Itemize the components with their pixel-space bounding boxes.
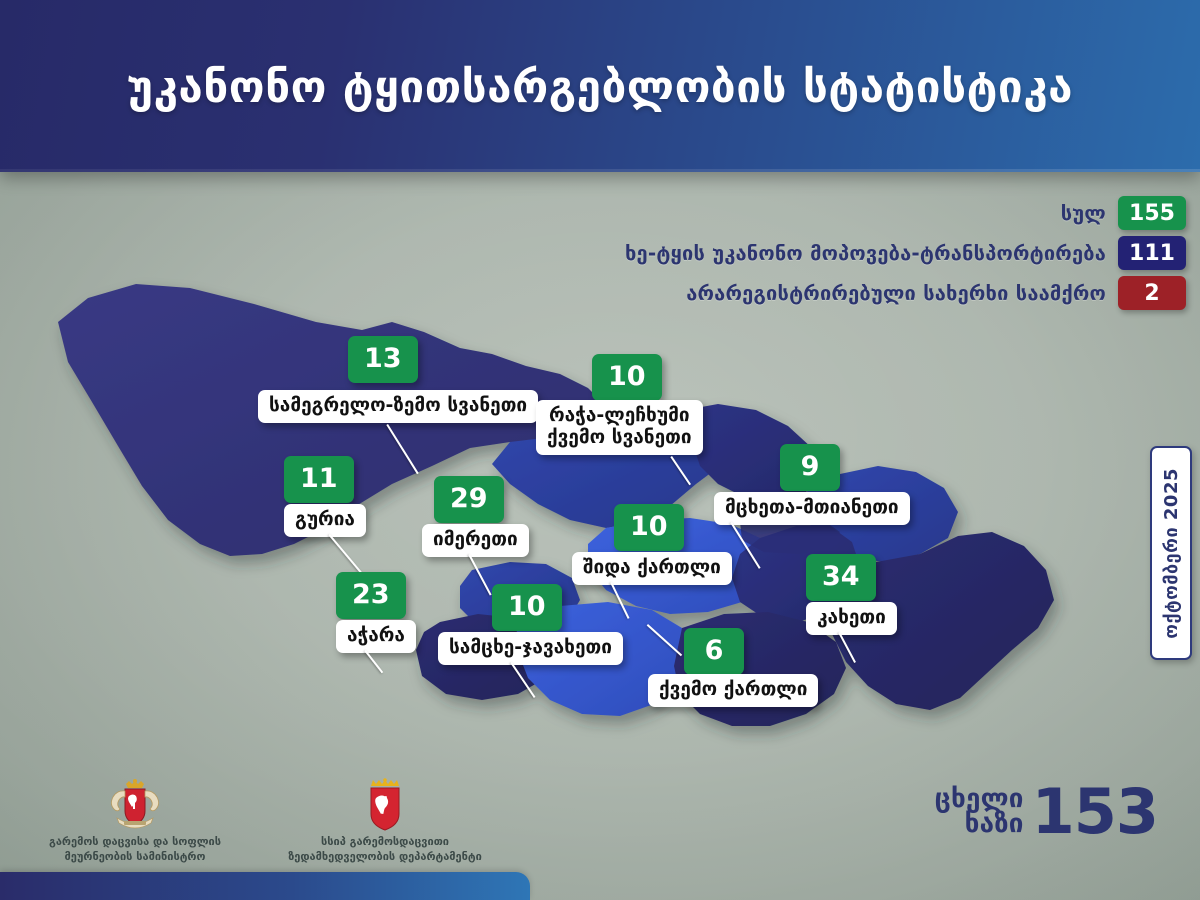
map-marker-guria[interactable]: 11 (284, 456, 354, 503)
map-marker-kakheti[interactable]: 34 (806, 554, 876, 601)
month-chip: ოქტომბერი 2025 (1150, 446, 1192, 660)
map-value-adjara: 23 (336, 572, 406, 619)
map-marker-kvemo-kartli[interactable]: 6 (684, 628, 744, 675)
map-value-racha: 10 (592, 354, 662, 401)
georgia-coat-of-arms-icon (105, 778, 165, 832)
map-label-samtskhe[interactable]: სამცხე-ჯავახეთი (438, 632, 623, 665)
map-name-kvemo-kartli: ქვემო ქართლი (648, 674, 818, 707)
map-marker-racha[interactable]: 10 (592, 354, 662, 401)
legend-badge-total: 155 (1118, 196, 1186, 230)
map-name-adjara: აჭარა (336, 620, 416, 653)
map-label-guria[interactable]: გურია (284, 504, 366, 537)
map-name-samtskhe: სამცხე-ჯავახეთი (438, 632, 623, 665)
map-label-imereti[interactable]: იმერეთი (422, 524, 529, 557)
map-label-mtskheta[interactable]: მცხეთა-მთიანეთი (714, 492, 910, 525)
map-value-guria: 11 (284, 456, 354, 503)
map-value-samegrelo: 13 (348, 336, 418, 383)
map-value-mtskheta: 9 (780, 444, 840, 491)
map-value-samtskhe: 10 (492, 584, 562, 631)
georgia-map (40, 270, 1100, 760)
map-label-adjara[interactable]: აჭარა (336, 620, 416, 653)
legend-label-total: სულ (1061, 201, 1106, 225)
map-marker-adjara[interactable]: 23 (336, 572, 406, 619)
map-value-imereti: 29 (434, 476, 504, 523)
department-emblem-icon (362, 778, 408, 832)
map-marker-imereti[interactable]: 29 (434, 476, 504, 523)
legend-badge-sawmill: 2 (1118, 276, 1186, 310)
map-name-mtskheta: მცხეთა-მთიანეთი (714, 492, 910, 525)
map-name-shida: შიდა ქართლი (572, 552, 732, 585)
map-name-kakheti: კახეთი (806, 602, 897, 635)
legend-label-transport: ხე-ტყის უკანონო მოპოვება-ტრანსპორტირება (625, 241, 1106, 265)
map-value-shida: 10 (614, 504, 684, 551)
map-name-guria: გურია (284, 504, 366, 537)
map-label-samegrelo[interactable]: სამეგრელო-ზემო სვანეთი (258, 390, 538, 423)
map-name-imereti: იმერეთი (422, 524, 529, 557)
legend-row-total: სულ 155 (406, 196, 1186, 230)
hotline: ცხელი ხაზი 153 (935, 786, 1158, 839)
map-marker-samtskhe[interactable]: 10 (492, 584, 562, 631)
map-name-racha: რაჭა-ლეჩხუმი ქვემო სვანეთი (536, 400, 703, 455)
legend-badge-transport: 111 (1118, 236, 1186, 270)
logo-ministry: გარემოს დაცვისა და სოფლის მეურნეობის სამ… (30, 778, 240, 865)
logo-caption-department: სსიპ გარემოსდაცვითი ზედამხედველობის დეპა… (275, 835, 495, 865)
map-name-samegrelo: სამეგრელო-ზემო სვანეთი (258, 390, 538, 423)
map-value-kakheti: 34 (806, 554, 876, 601)
map-label-kakheti[interactable]: კახეთი (806, 602, 897, 635)
logo-caption-ministry: გარემოს დაცვისა და სოფლის მეურნეობის სამ… (30, 835, 240, 865)
hotline-number: 153 (1032, 786, 1158, 839)
map-marker-mtskheta[interactable]: 9 (780, 444, 840, 491)
footer-logos: გარემოს დაცვისა და სოფლის მეურნეობის სამ… (0, 778, 560, 878)
map-value-kvemo-kartli: 6 (684, 628, 744, 675)
legend-row-transport: ხე-ტყის უკანონო მოპოვება-ტრანსპორტირება … (406, 236, 1186, 270)
map-marker-shida[interactable]: 10 (614, 504, 684, 551)
month-chip-label: ოქტომბერი 2025 (1161, 468, 1182, 639)
map-label-shida[interactable]: შიდა ქართლი (572, 552, 732, 585)
map-label-racha[interactable]: რაჭა-ლეჩხუმი ქვემო სვანეთი (536, 400, 703, 455)
logo-department: სსიპ გარემოსდაცვითი ზედამხედველობის დეპა… (275, 778, 495, 865)
map-label-kvemo-kartli[interactable]: ქვემო ქართლი (648, 674, 818, 707)
map-marker-samegrelo[interactable]: 13 (348, 336, 418, 383)
bottom-accent-bar (0, 872, 530, 900)
page-title: უკანონო ტყითსარგებლობის სტატისტიკა (127, 64, 1073, 112)
hotline-line2: ხაზი (935, 812, 1024, 837)
hotline-words: ცხელი ხაზი (935, 787, 1024, 837)
header-banner: უკანონო ტყითსარგებლობის სტატისტიკა (0, 0, 1200, 172)
